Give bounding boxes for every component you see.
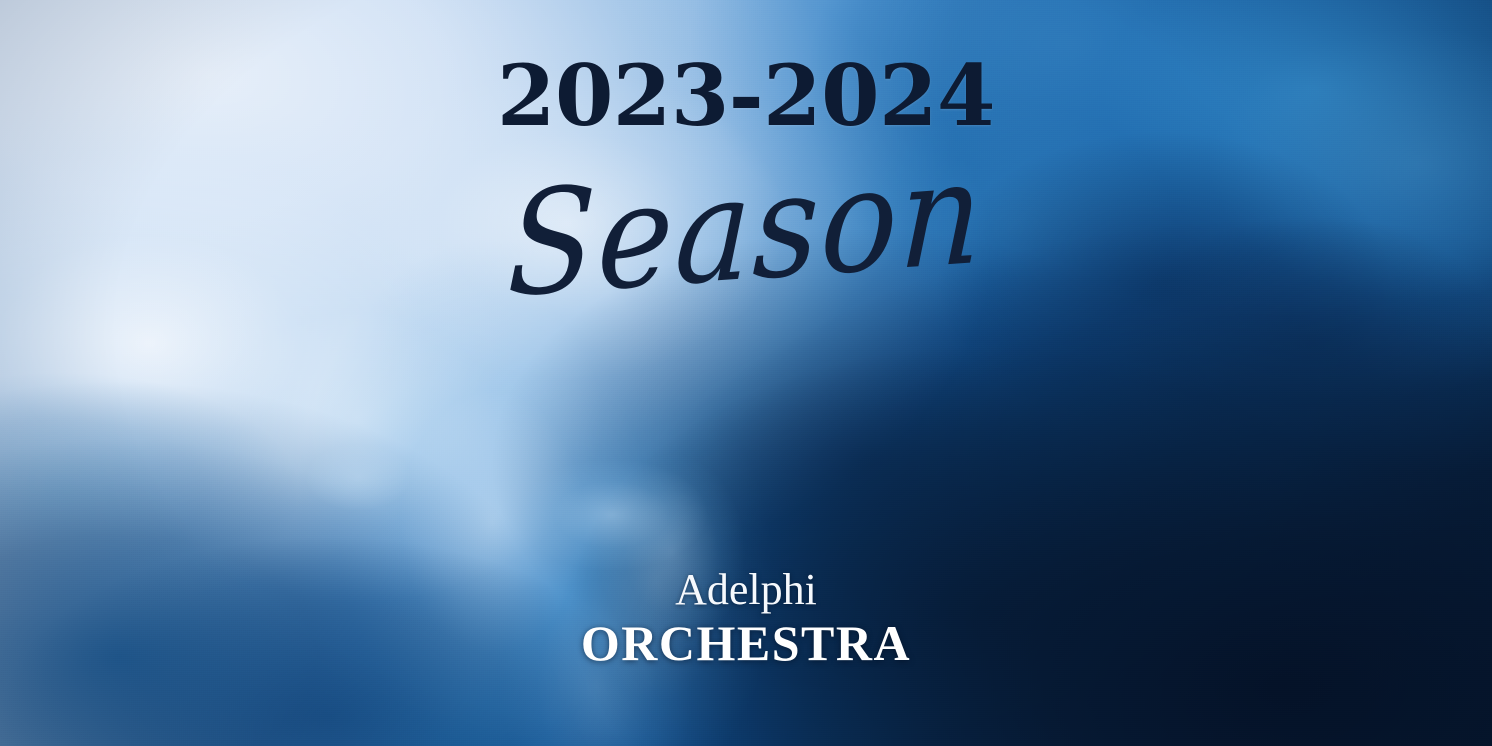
ensemble-type: ORCHESTRA [0, 616, 1492, 671]
ensemble-name: Adelphi [0, 566, 1492, 614]
season-poster: 2023-2024 Season Adelphi ORCHESTRA [0, 0, 1492, 746]
